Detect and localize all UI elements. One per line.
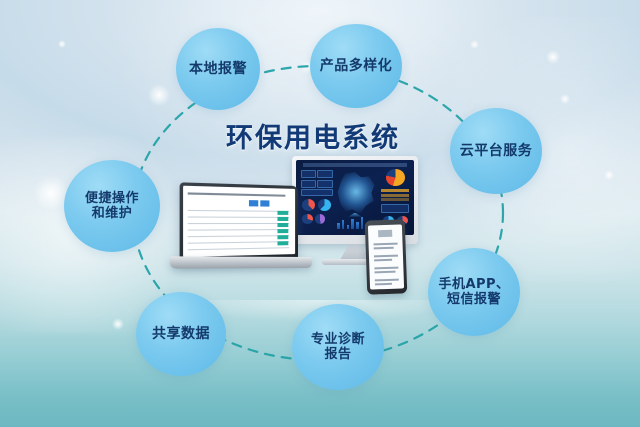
- table-status-cell: [277, 235, 288, 239]
- phone-list-item: [374, 267, 398, 269]
- table-toolbar-chip: [260, 200, 269, 206]
- dashboard-legend-row: [381, 189, 409, 192]
- dashboard-legend-row: [381, 198, 409, 201]
- laptop-keyboard-base: [170, 256, 312, 268]
- bubble-label-line2: 报告: [311, 347, 365, 362]
- table-row: [188, 216, 290, 218]
- dashboard-card: [381, 204, 409, 214]
- table-status-cell: [277, 211, 288, 215]
- dashboard-gauge: [302, 214, 313, 224]
- phone-list-item: [374, 247, 394, 249]
- phone-list-item: [374, 259, 392, 261]
- laptop-computer: [180, 182, 298, 263]
- poster-canvas: 环保用电系统 本地报警 产品多样化 云平台服务 手机APP、 短信报警 专业诊断…: [0, 0, 640, 427]
- phone-app-header: [378, 230, 392, 237]
- dashboard-card: [317, 180, 332, 188]
- table-row: [188, 235, 290, 237]
- table-status-cell: [277, 223, 288, 227]
- smartphone: [365, 219, 408, 294]
- dashboard-bar: [356, 222, 358, 229]
- bubble-mobile-sms-alarm[interactable]: 手机APP、 短信报警: [428, 248, 520, 336]
- bubble-label-line1: 专业诊断: [311, 332, 365, 347]
- phone-list-item: [374, 243, 398, 245]
- dashboard-gauge: [386, 169, 405, 186]
- dashboard-bar: [337, 223, 339, 229]
- table-toolbar-chip: [249, 200, 258, 206]
- dashboard-bar: [347, 225, 349, 230]
- dashboard-bar: [351, 219, 353, 230]
- dashboard-card: [301, 180, 316, 188]
- phone-screen-alarm-list: [368, 224, 404, 289]
- phone-list-item: [375, 279, 399, 281]
- bubble-label-line1: 便捷操作: [85, 191, 139, 206]
- dashboard-bar: [361, 217, 363, 229]
- bubble-easy-operation[interactable]: 便捷操作 和维护: [64, 160, 160, 252]
- bubble-label: 本地报警: [189, 61, 247, 77]
- device-cluster: [186, 156, 446, 306]
- dashboard-gauge: [318, 199, 331, 211]
- dashboard-bar: [342, 220, 344, 229]
- dashboard-card: [317, 170, 332, 178]
- laptop-screen-table: [183, 186, 295, 257]
- bubble-label-line1: 手机APP、: [438, 277, 509, 292]
- dashboard-card: [301, 170, 316, 178]
- table-row: [188, 241, 290, 244]
- bubble-label-line2: 和维护: [85, 206, 139, 221]
- table-status-cell: [277, 217, 288, 221]
- dashboard-legend-row: [381, 194, 409, 197]
- bubble-shared-data[interactable]: 共享数据: [136, 292, 226, 376]
- table-status-cell: [277, 229, 288, 233]
- table-status-cell: [277, 241, 288, 245]
- table-row: [188, 247, 290, 250]
- bubble-label: 共享数据: [152, 326, 210, 342]
- page-title: 环保用电系统: [226, 116, 400, 155]
- dashboard-header: [303, 163, 407, 167]
- dashboard-gauge: [315, 214, 326, 224]
- bubble-diagnostic-report[interactable]: 专业诊断 报告: [292, 304, 384, 390]
- bubble-label: 产品多样化: [320, 58, 393, 74]
- bubble-label-line2: 短信报警: [438, 292, 509, 307]
- dashboard-card: [301, 189, 333, 196]
- dashboard-gauge: [302, 199, 315, 211]
- phone-list-item: [375, 283, 392, 285]
- bubble-cloud-platform[interactable]: 云平台服务: [450, 108, 542, 194]
- dashboard-china-map: [336, 172, 376, 216]
- table-header-line: [188, 192, 286, 196]
- table-row: [188, 210, 290, 212]
- bubble-product-diversity[interactable]: 产品多样化: [310, 24, 402, 108]
- bubble-label: 云平台服务: [460, 143, 533, 159]
- phone-list-item: [374, 255, 398, 257]
- phone-list-item: [374, 271, 395, 273]
- table-row: [188, 229, 290, 231]
- table-row: [188, 223, 290, 224]
- bubble-local-alarm[interactable]: 本地报警: [176, 28, 260, 110]
